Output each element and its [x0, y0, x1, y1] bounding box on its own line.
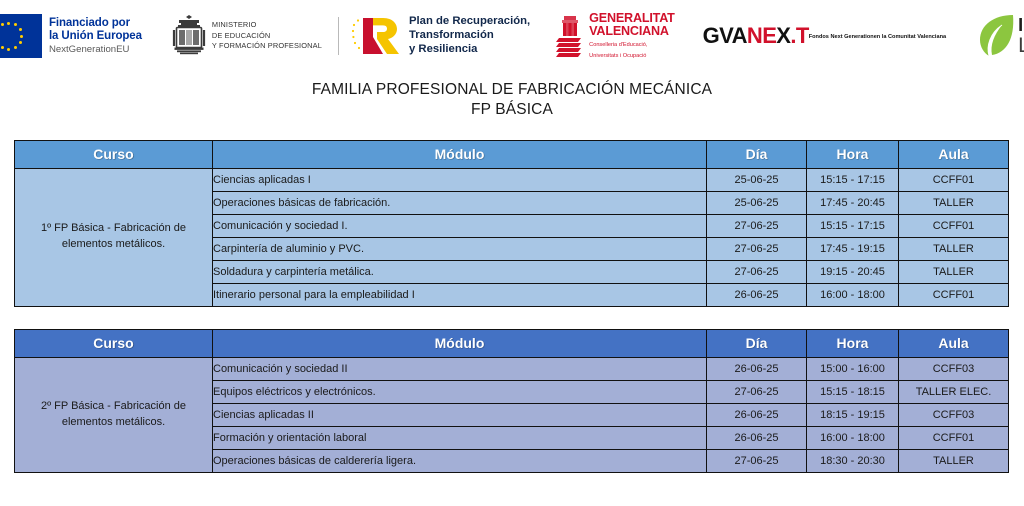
- cell-hora: 18:15 - 19:15: [807, 403, 899, 426]
- cell-aula: TALLER: [899, 237, 1009, 260]
- institutional-logo-bar: Financiado por la Unión Europea NextGene…: [0, 0, 1024, 72]
- generalitat-sub-2: Universitats i Ocupació: [589, 53, 674, 61]
- gva-next-sub-2: en la Comunitat Valenciana: [874, 33, 946, 41]
- cell-aula: CCFF03: [899, 403, 1009, 426]
- cell-hora: 16:00 - 18:00: [807, 283, 899, 306]
- gva-next-logo: GVANEX.T Fondos Next Generation en la Co…: [703, 23, 946, 49]
- eu-star-icon: [1, 23, 4, 26]
- cell-aula: CCFF01: [899, 168, 1009, 191]
- cell-modulo: Carpintería de aluminio y PVC.: [213, 237, 707, 260]
- page-title: FAMILIA PROFESIONAL DE FABRICACIÓN MECÁN…: [0, 80, 1024, 121]
- cell-hora: 15:15 - 17:15: [807, 214, 899, 237]
- cell-hora: 16:00 - 18:00: [807, 426, 899, 449]
- cell-aula: TALLER: [899, 260, 1009, 283]
- cell-hora: 17:45 - 20:45: [807, 191, 899, 214]
- column-header-modulo: Módulo: [213, 140, 707, 168]
- cell-hora: 15:00 - 16:00: [807, 357, 899, 380]
- page-title-line-1: FAMILIA PROFESIONAL DE FABRICACIÓN MECÁN…: [0, 80, 1024, 100]
- cell-aula: CCFF01: [899, 214, 1009, 237]
- column-header-dia: Día: [707, 140, 807, 168]
- generalitat-crown-icon: [556, 14, 584, 58]
- cell-aula: CCFF03: [899, 357, 1009, 380]
- cell-dia: 27-06-25: [707, 260, 807, 283]
- cell-modulo: Itinerario personal para la empleabilida…: [213, 283, 707, 306]
- leaf-icon: [976, 13, 1016, 59]
- cell-dia: 25-06-25: [707, 191, 807, 214]
- cell-dia: 27-06-25: [707, 214, 807, 237]
- generalitat-valenciana-logo: GENERALITAT VALENCIANA Conselleria d'Edu…: [556, 12, 674, 61]
- cell-modulo: Soldadura y carpintería metálica.: [213, 260, 707, 283]
- eu-funding-text: Financiado por la Unión Europea NextGene…: [49, 17, 142, 55]
- escudo-espana-icon: [172, 14, 206, 58]
- cell-dia: 26-06-25: [707, 283, 807, 306]
- cell-dia: 27-06-25: [707, 237, 807, 260]
- ministerio-logo: MINISTERIO DE EDUCACIÓN Y FORMACIÓN PROF…: [172, 14, 349, 58]
- column-header-curso: Curso: [15, 140, 213, 168]
- plan-line-2: Transformación: [409, 29, 530, 43]
- ies-la-foia-logo: IES La Foia: [976, 13, 1024, 59]
- gva-next-part-3: X: [776, 23, 790, 48]
- ies-line-1: IES: [1018, 16, 1024, 34]
- eu-star-icon: [7, 22, 10, 25]
- gva-next-part-1: GVA: [703, 23, 747, 48]
- eu-line-3: NextGenerationEU: [49, 45, 142, 56]
- column-header-aula: Aula: [899, 329, 1009, 357]
- cell-dia: 26-06-25: [707, 403, 807, 426]
- gva-next-sub-1: Fondos Next Generation: [809, 33, 874, 41]
- table-row: 1º FP Básica - Fabricación de elementos …: [15, 168, 1009, 191]
- eu-star-icon: [20, 35, 23, 38]
- gva-next-wordmark: GVANEX.T: [703, 23, 809, 49]
- plan-line-1: Plan de Recuperación,: [409, 15, 530, 29]
- table-header-row: Curso Módulo Día Hora Aula: [15, 329, 1009, 357]
- cell-dia: 26-06-25: [707, 357, 807, 380]
- plan-recuperacion-logo: Plan de Recuperación, Transformación y R…: [349, 15, 530, 57]
- gva-next-part-2: NE: [747, 23, 776, 48]
- cell-aula: TALLER ELEC.: [899, 380, 1009, 403]
- cell-modulo: Equipos eléctricos y electrónicos.: [213, 380, 707, 403]
- table-row: 2º FP Básica - Fabricación de elementos …: [15, 357, 1009, 380]
- column-header-hora: Hora: [807, 329, 899, 357]
- schedule-table-1: Curso Módulo Día Hora Aula 1º FP Básica …: [14, 140, 1009, 307]
- eu-star-icon: [1, 46, 4, 49]
- plan-line-3: y Resiliencia: [409, 43, 530, 57]
- cell-dia: 25-06-25: [707, 168, 807, 191]
- cell-aula: CCFF01: [899, 426, 1009, 449]
- cell-modulo: Operaciones básicas de fabricación.: [213, 191, 707, 214]
- column-header-hora: Hora: [807, 140, 899, 168]
- eu-line-1: Financiado por: [49, 17, 142, 30]
- generalitat-sub-1: Conselleria d'Educació,: [589, 42, 674, 50]
- column-header-aula: Aula: [899, 140, 1009, 168]
- generalitat-line-1: GENERALITAT: [589, 12, 674, 26]
- eu-flag-icon: [0, 14, 42, 58]
- cell-curso: 1º FP Básica - Fabricación de elementos …: [15, 168, 213, 306]
- column-header-dia: Día: [707, 329, 807, 357]
- plan-recuperacion-mark-icon: [349, 15, 401, 57]
- cell-hora: 15:15 - 18:15: [807, 380, 899, 403]
- tables-spacer: [14, 307, 1010, 329]
- cell-aula: CCFF01: [899, 283, 1009, 306]
- cell-hora: 18:30 - 20:30: [807, 449, 899, 472]
- ministerio-line-3: Y FORMACIÓN PROFESIONAL: [212, 41, 322, 52]
- cell-modulo: Operaciones básicas de calderería ligera…: [213, 449, 707, 472]
- schedule-tables-container: Curso Módulo Día Hora Aula 1º FP Básica …: [0, 140, 1024, 473]
- column-header-modulo: Módulo: [213, 329, 707, 357]
- cell-modulo: Ciencias aplicadas II: [213, 403, 707, 426]
- cell-modulo: Comunicación y sociedad II: [213, 357, 707, 380]
- eu-star-icon: [7, 48, 10, 51]
- cell-dia: 27-06-25: [707, 380, 807, 403]
- generalitat-line-2: VALENCIANA: [589, 25, 674, 39]
- eu-star-icon: [14, 23, 17, 26]
- cell-hora: 19:15 - 20:45: [807, 260, 899, 283]
- cell-curso: 2º FP Básica - Fabricación de elementos …: [15, 357, 213, 472]
- gva-next-part-4: .T: [790, 23, 808, 48]
- cell-dia: 27-06-25: [707, 449, 807, 472]
- eu-star-icon: [19, 41, 22, 44]
- cell-hora: 15:15 - 17:15: [807, 168, 899, 191]
- plan-recuperacion-text: Plan de Recuperación, Transformación y R…: [409, 15, 530, 56]
- cell-modulo: Ciencias aplicadas I: [213, 168, 707, 191]
- logo-divider: [338, 17, 339, 55]
- eu-funding-logo: Financiado por la Unión Europea NextGene…: [0, 14, 142, 58]
- generalitat-text: GENERALITAT VALENCIANA Conselleria d'Edu…: [589, 12, 674, 61]
- schedule-table-2-body: 2º FP Básica - Fabricación de elementos …: [15, 357, 1009, 472]
- schedule-table-1-body: 1º FP Básica - Fabricación de elementos …: [15, 168, 1009, 306]
- cell-modulo: Formación y orientación laboral: [213, 426, 707, 449]
- cell-dia: 26-06-25: [707, 426, 807, 449]
- eu-star-icon: [19, 28, 22, 31]
- ies-line-2: La Foia: [1018, 35, 1024, 56]
- column-header-curso: Curso: [15, 329, 213, 357]
- page-title-line-2: FP BÁSICA: [0, 100, 1024, 120]
- cell-aula: TALLER: [899, 191, 1009, 214]
- ministerio-text: MINISTERIO DE EDUCACIÓN Y FORMACIÓN PROF…: [212, 20, 322, 52]
- cell-hora: 17:45 - 19:15: [807, 237, 899, 260]
- table-header-row: Curso Módulo Día Hora Aula: [15, 140, 1009, 168]
- schedule-table-2: Curso Módulo Día Hora Aula 2º FP Básica …: [14, 329, 1009, 473]
- ministerio-line-1: MINISTERIO: [212, 20, 322, 31]
- eu-star-icon: [14, 46, 17, 49]
- cell-aula: TALLER: [899, 449, 1009, 472]
- ies-la-foia-text: IES La Foia: [1018, 16, 1024, 56]
- eu-line-2: la Unión Europea: [49, 30, 142, 43]
- cell-modulo: Comunicación y sociedad I.: [213, 214, 707, 237]
- ministerio-line-2: DE EDUCACIÓN: [212, 31, 322, 42]
